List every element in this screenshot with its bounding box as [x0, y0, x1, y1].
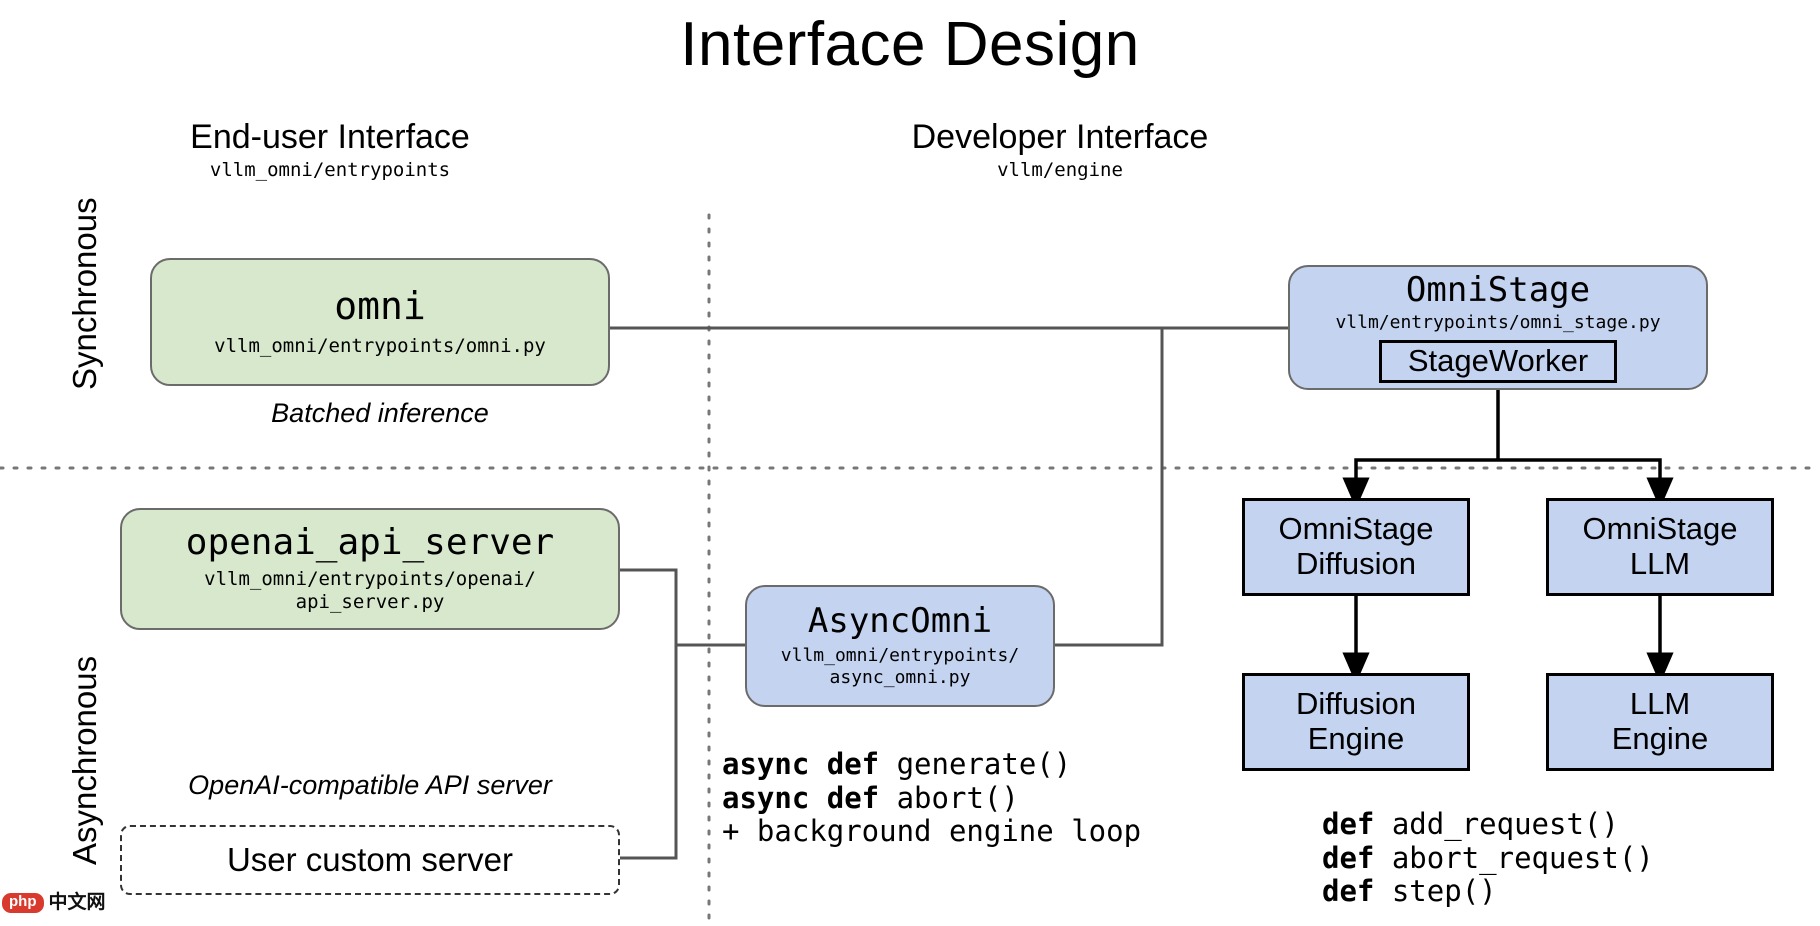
- connector-fork-right: [1498, 460, 1660, 492]
- node-omnistage-diffusion-title: OmniStage Diffusion: [1278, 512, 1433, 581]
- column-subtitle-developer: vllm/engine: [790, 161, 1330, 180]
- node-async-omni[interactable]: AsyncOmni vllm_omni/entrypoints/ async_o…: [745, 585, 1055, 707]
- node-user-custom-server[interactable]: User custom server: [120, 825, 620, 895]
- node-user-custom-server-title: User custom server: [227, 843, 513, 878]
- async-api-keyword: async def: [722, 781, 879, 815]
- connector-omnistage-bus-to-asyncomni: [1055, 328, 1162, 645]
- connector-bus-to-usercustom: [620, 645, 676, 858]
- column-heading-enduser: End-user Interface: [60, 120, 600, 154]
- node-diffusion-engine[interactable]: Diffusion Engine: [1242, 673, 1470, 771]
- caption-openai-compatible: OpenAI-compatible API server: [120, 772, 620, 799]
- node-async-omni-title: AsyncOmni: [808, 604, 992, 640]
- async-api-line: + background engine loop: [722, 815, 1141, 849]
- engine-api-keyword: def: [1322, 841, 1374, 875]
- engine-api-text: step(): [1374, 874, 1496, 908]
- caption-batched-inference: Batched inference: [150, 400, 610, 427]
- page-title: Interface Design: [0, 14, 1820, 76]
- engine-api-line: def abort_request(): [1322, 842, 1654, 876]
- node-async-omni-path: vllm_omni/entrypoints/ async_omni.py: [781, 645, 1019, 688]
- diagram-canvas: Interface Design End-user Interface vllm…: [0, 0, 1820, 926]
- engine-api-keyword: def: [1322, 874, 1374, 908]
- node-omni-path: vllm_omni/entrypoints/omni.py: [214, 335, 546, 358]
- engine-api-line: def add_request(): [1322, 808, 1654, 842]
- node-llm-engine[interactable]: LLM Engine: [1546, 673, 1774, 771]
- engine-api-text: abort_request(): [1374, 841, 1653, 875]
- node-openai-title: openai_api_server: [186, 524, 554, 562]
- node-diffusion-engine-title: Diffusion Engine: [1296, 687, 1416, 756]
- connector-fork-left: [1356, 460, 1498, 492]
- node-openai-path: vllm_omni/entrypoints/openai/ api_server…: [204, 568, 536, 614]
- code-block-engine-api: def add_request()def abort_request()def …: [1322, 808, 1654, 909]
- node-omnistage-title: OmniStage: [1406, 273, 1590, 309]
- node-openai-api-server[interactable]: openai_api_server vllm_omni/entrypoints/…: [120, 508, 620, 630]
- node-omnistage-llm[interactable]: OmniStage LLM: [1546, 498, 1774, 596]
- axis-label-synchronous: Synchronous: [68, 197, 101, 390]
- column-heading-developer: Developer Interface: [790, 120, 1330, 154]
- async-api-keyword: async def: [722, 747, 879, 781]
- async-api-text: + background engine loop: [722, 814, 1141, 848]
- engine-api-line: def step(): [1322, 875, 1654, 909]
- code-block-async-api: async def generate()async def abort()+ b…: [722, 748, 1141, 849]
- node-omnistage-diffusion[interactable]: OmniStage Diffusion: [1242, 498, 1470, 596]
- async-api-line: async def abort(): [722, 782, 1141, 816]
- engine-api-keyword: def: [1322, 807, 1374, 841]
- engine-api-text: add_request(): [1374, 807, 1618, 841]
- node-omnistage-llm-title: OmniStage LLM: [1582, 512, 1737, 581]
- node-omnistage-path: vllm/entrypoints/omni_stage.py: [1335, 312, 1660, 334]
- node-llm-engine-title: LLM Engine: [1612, 687, 1709, 756]
- connector-openai-to-bus: [620, 570, 745, 645]
- node-omnistage[interactable]: OmniStage vllm/entrypoints/omni_stage.py…: [1288, 265, 1708, 390]
- column-subtitle-enduser: vllm_omni/entrypoints: [60, 161, 600, 180]
- node-omni-title: omni: [334, 287, 426, 327]
- watermark-php-badge: php: [2, 893, 44, 913]
- watermark-text: 中文网: [49, 893, 106, 912]
- axis-label-asynchronous: Asynchronous: [68, 656, 101, 865]
- watermark: php 中文网: [2, 893, 106, 913]
- async-api-text: generate(): [879, 747, 1071, 781]
- node-stage-worker[interactable]: StageWorker: [1379, 340, 1617, 383]
- async-api-text: abort(): [879, 781, 1019, 815]
- async-api-line: async def generate(): [722, 748, 1141, 782]
- node-omni[interactable]: omni vllm_omni/entrypoints/omni.py: [150, 258, 610, 386]
